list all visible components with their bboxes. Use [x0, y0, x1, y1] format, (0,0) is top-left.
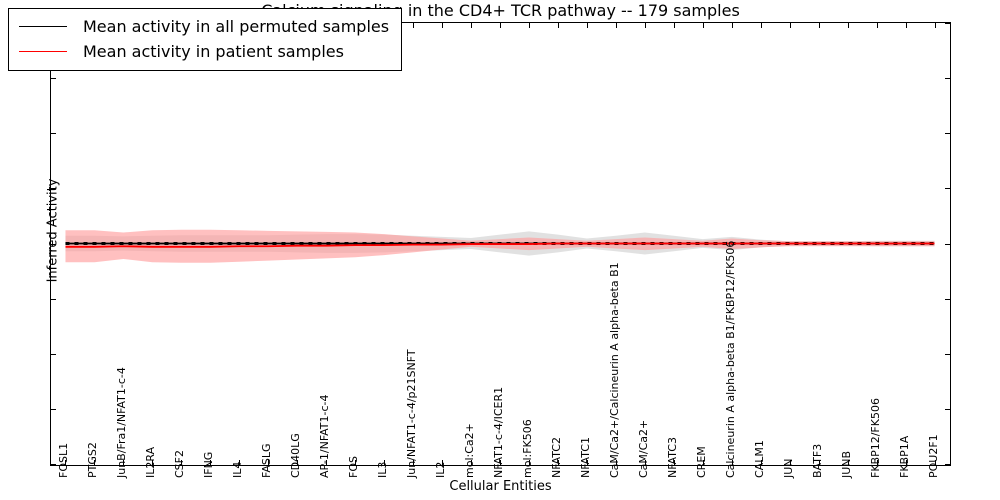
legend-item[interactable]: Mean activity in all permuted samples — [19, 14, 389, 39]
y-tick-mark — [51, 354, 56, 355]
x-tick-label: FASLG — [261, 444, 272, 478]
x-tick-label: PTGS2 — [87, 442, 98, 478]
x-tick-label: NFATC1 — [580, 437, 591, 478]
x-tick-label: NFATC2 — [551, 437, 562, 478]
x-tick-label: Calcineurin A alpha-beta B1/FKBP12/FK506 — [725, 241, 736, 478]
x-tick-label: CD40LG — [290, 433, 301, 478]
x-tick-label: POU2F1 — [928, 434, 939, 478]
x-tick-mark — [703, 23, 704, 28]
x-tick-label: AP-1/NFAT1-c-4 — [319, 394, 330, 478]
x-tick-label: IL2 — [435, 462, 446, 478]
y-tick-mark — [51, 188, 56, 189]
x-tick-label: JUNB — [841, 451, 852, 478]
x-tick-label: CSF2 — [174, 450, 185, 478]
x-tick-label: IL3 — [377, 462, 388, 478]
y-tick-mark — [945, 78, 950, 79]
x-tick-mark — [790, 23, 791, 28]
x-tick-mark — [732, 23, 733, 28]
x-tick-mark — [558, 23, 559, 28]
y-tick-mark — [51, 244, 56, 245]
x-tick-label: FKBP12/FK506 — [870, 398, 881, 478]
x-tick-label: NFATC3 — [667, 437, 678, 478]
x-tick-mark — [616, 23, 617, 28]
legend-item[interactable]: Mean activity in patient samples — [19, 39, 389, 64]
x-tick-mark — [674, 23, 675, 28]
y-tick-mark — [945, 23, 950, 24]
y-tick-mark — [51, 133, 56, 134]
chart-legend: Mean activity in all permuted samples Me… — [8, 8, 402, 71]
y-tick-mark — [945, 354, 950, 355]
x-tick-mark — [645, 23, 646, 28]
x-tick-label: NFAT1-c-4/ICER1 — [493, 387, 504, 478]
x-tick-mark — [848, 23, 849, 28]
y-tick-mark — [51, 464, 56, 465]
x-tick-mark — [761, 23, 762, 28]
x-tick-label: IFNG — [203, 452, 214, 478]
legend-swatch-patient — [19, 51, 67, 52]
y-tick-mark — [945, 299, 950, 300]
y-tick-mark — [945, 188, 950, 189]
x-tick-mark — [906, 23, 907, 28]
x-tick-label: FKBP1A — [899, 436, 910, 478]
x-tick-label: Jun/NFAT1-c-4/p21SNFT — [406, 349, 417, 478]
x-tick-label: CaM/Ca2+/Calcineurin A alpha-beta B1 — [609, 262, 620, 478]
y-tick-mark — [945, 244, 950, 245]
legend-swatch-permuted — [19, 26, 67, 27]
x-tick-label: IL4 — [232, 462, 243, 478]
x-tick-mark — [413, 23, 414, 28]
x-tick-mark — [935, 23, 936, 28]
chart-figure: Calcium signaling in the CD4+ TCR pathwa… — [0, 0, 1000, 500]
x-tick-label: BATF3 — [812, 444, 823, 478]
y-tick-mark — [945, 409, 950, 410]
y-tick-mark — [51, 78, 56, 79]
x-tick-label: CaM/Ca2+ — [638, 420, 649, 478]
legend-label-permuted: Mean activity in all permuted samples — [83, 17, 389, 36]
x-tick-mark — [442, 23, 443, 28]
x-tick-mark — [877, 23, 878, 28]
x-tick-label: FOSL1 — [58, 443, 69, 478]
x-tick-mark — [471, 23, 472, 28]
y-tick-mark — [51, 409, 56, 410]
x-tick-label: FOS — [348, 456, 359, 478]
x-tick-label: JUN — [783, 458, 794, 478]
x-tick-label: CREM — [696, 446, 707, 478]
y-tick-mark — [51, 299, 56, 300]
x-tick-mark — [529, 23, 530, 28]
y-tick-mark — [945, 133, 950, 134]
x-tick-label: JunB/Fra1/NFAT1-c-4 — [116, 367, 127, 478]
x-tick-label: mol:FK506 — [522, 419, 533, 478]
legend-label-patient: Mean activity in patient samples — [83, 42, 344, 61]
y-tick-mark — [945, 464, 950, 465]
x-tick-mark — [500, 23, 501, 28]
x-tick-label: CALM1 — [754, 440, 765, 478]
x-tick-mark — [819, 23, 820, 28]
x-tick-mark — [587, 23, 588, 28]
x-tick-label: mol:Ca2+ — [464, 423, 475, 478]
x-tick-label: IL2RA — [145, 447, 156, 478]
x-axis-label: Cellular Entities — [50, 479, 951, 494]
